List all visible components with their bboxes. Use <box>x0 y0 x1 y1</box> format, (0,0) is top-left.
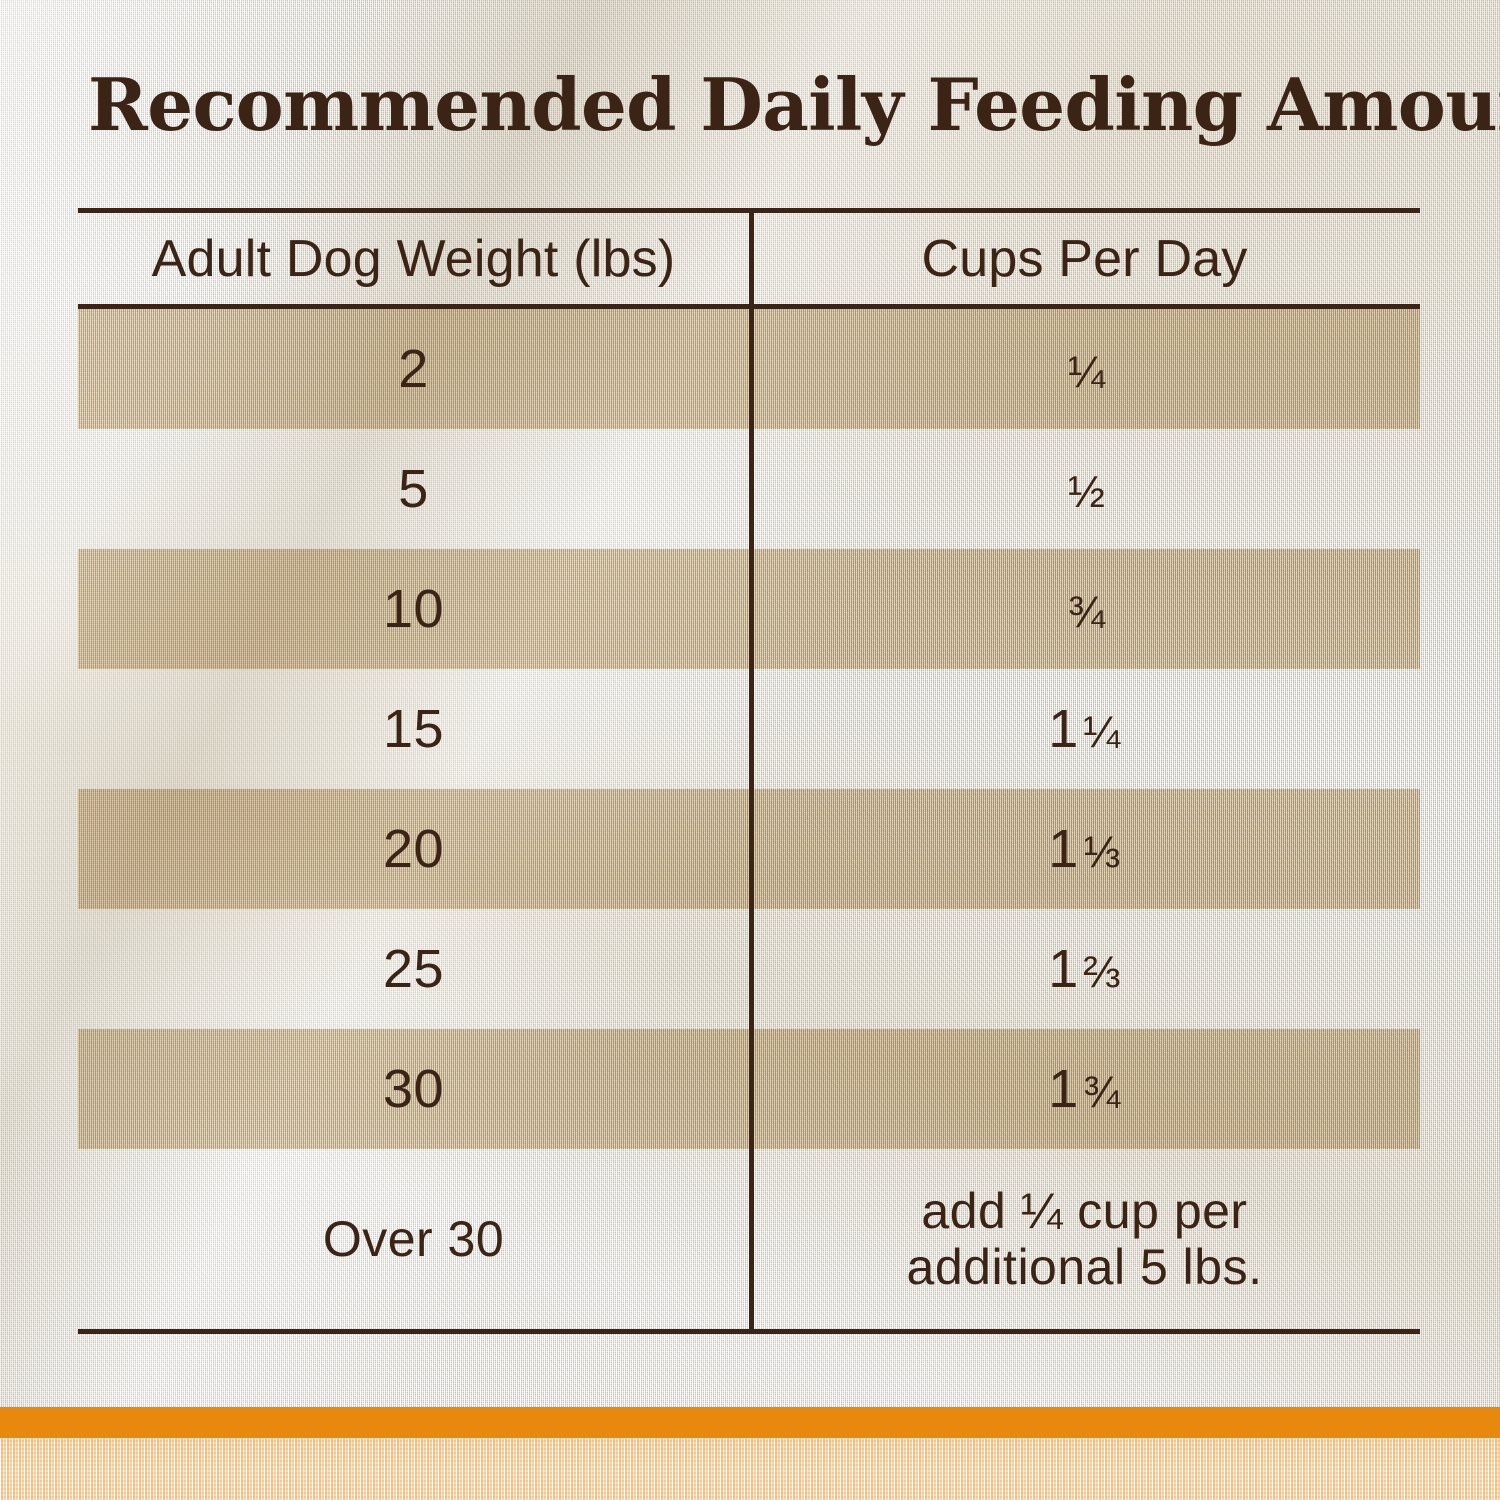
cell-cups: 1⅓ <box>749 789 1420 909</box>
feeding-table: Adult Dog Weight (lbs) Cups Per Day 2 ¼ … <box>78 208 1420 1334</box>
cups-value: 1¾ <box>1048 1059 1120 1119</box>
cups-value: ¼ <box>1064 339 1106 399</box>
cups-fraction: ⅓ <box>1083 828 1120 877</box>
cups-value: ¾ <box>1064 579 1106 639</box>
table-row: 20 1⅓ <box>78 789 1420 909</box>
weight-value: 2 <box>398 339 429 399</box>
table-row: 5 ½ <box>78 429 1420 549</box>
table-header-row: Adult Dog Weight (lbs) Cups Per Day <box>78 213 1420 304</box>
weight-value: 15 <box>383 699 444 759</box>
cell-weight: 25 <box>78 909 749 1029</box>
weight-value: 5 <box>398 459 429 519</box>
table-row: 25 1⅔ <box>78 909 1420 1029</box>
cups-whole: 1 <box>1048 819 1079 879</box>
cups-fraction: ¼ <box>1083 708 1120 757</box>
cell-cups: ¼ <box>749 309 1420 429</box>
cell-cups: 1¼ <box>749 669 1420 789</box>
cups-whole: 1 <box>1048 939 1079 999</box>
cups-fraction: ¾ <box>1068 588 1105 637</box>
cups-value: 1⅔ <box>1048 939 1120 999</box>
cups-whole: 1 <box>1048 699 1079 759</box>
table-row: 15 1¼ <box>78 669 1420 789</box>
cell-weight: 30 <box>78 1029 749 1149</box>
cups-fraction: ¼ <box>1068 348 1105 397</box>
cell-cups: ½ <box>749 429 1420 549</box>
cell-weight: 15 <box>78 669 749 789</box>
weight-value: Over 30 <box>323 1211 504 1267</box>
cell-cups: 1⅔ <box>749 909 1420 1029</box>
cell-cups: 1¾ <box>749 1029 1420 1149</box>
cups-value: 1¼ <box>1048 699 1120 759</box>
weight-value: 30 <box>383 1059 444 1119</box>
cups-note-line2: additional 5 lbs. <box>907 1239 1263 1295</box>
accent-orange-bar <box>0 1407 1500 1438</box>
column-header-cups: Cups Per Day <box>749 213 1420 304</box>
cups-whole: 1 <box>1048 1059 1079 1119</box>
table-row: 10 ¾ <box>78 549 1420 669</box>
table-row: Over 30 add ¼ cup peradditional 5 lbs. <box>78 1149 1420 1329</box>
cell-weight: Over 30 <box>78 1149 749 1329</box>
cups-value: 1⅓ <box>1048 819 1120 879</box>
cups-note-line1: add ¼ cup per <box>921 1183 1247 1239</box>
column-header-weight-label: Adult Dog Weight (lbs) <box>152 229 676 289</box>
footer-peach-texture-strip <box>0 1438 1500 1500</box>
cell-weight: 2 <box>78 309 749 429</box>
cell-weight: 10 <box>78 549 749 669</box>
column-header-cups-label: Cups Per Day <box>921 229 1247 289</box>
column-header-weight: Adult Dog Weight (lbs) <box>78 213 749 304</box>
cups-value: ½ <box>1064 459 1106 519</box>
cups-fraction: ¾ <box>1083 1068 1120 1117</box>
table-row: 2 ¼ <box>78 309 1420 429</box>
table-body: 2 ¼ 5 ½ 10 ¾ <box>78 309 1420 1329</box>
cups-fraction: ½ <box>1068 468 1105 517</box>
page-title: Recommended Daily Feeding Amounts: <box>88 62 1428 147</box>
cups-fraction: ⅔ <box>1083 948 1120 997</box>
cell-cups: add ¼ cup peradditional 5 lbs. <box>749 1149 1420 1329</box>
cell-cups: ¾ <box>749 549 1420 669</box>
weight-value: 10 <box>383 579 444 639</box>
weight-value: 20 <box>383 819 444 879</box>
cell-weight: 5 <box>78 429 749 549</box>
cell-weight: 20 <box>78 789 749 909</box>
weight-value: 25 <box>383 939 444 999</box>
table-row: 30 1¾ <box>78 1029 1420 1149</box>
feeding-chart-image: Recommended Daily Feeding Amounts: Adult… <box>0 0 1500 1500</box>
cups-value: add ¼ cup peradditional 5 lbs. <box>907 1183 1263 1295</box>
